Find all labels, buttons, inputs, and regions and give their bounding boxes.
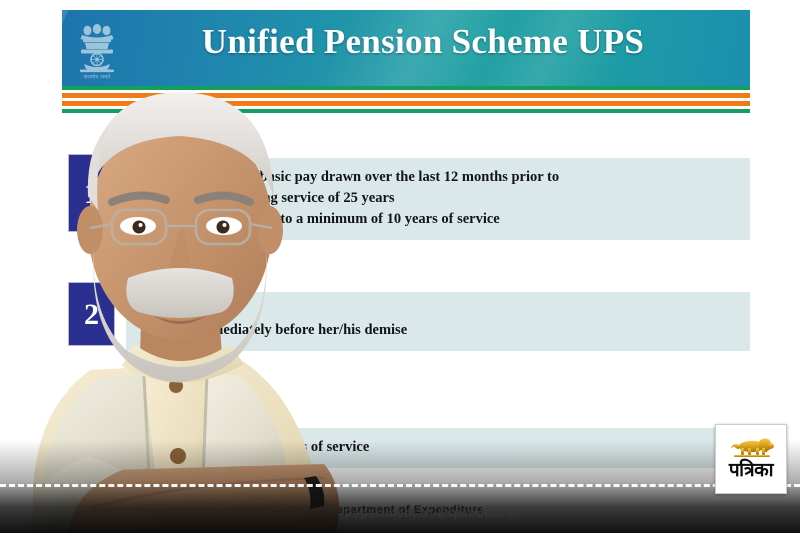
svg-text:सत्यमेव जयते: सत्यमेव जयते [84,74,111,81]
point-number-badge: 1 [68,154,115,232]
point-text-line: mployee immediately before her/his demis… [140,320,736,341]
point-number-badge: 2 [68,282,115,346]
scheme-point-row: 1 0 % of the average basic pay drawn ove… [62,150,750,238]
rule-green-bottom [62,109,750,113]
lion-logo-icon [728,434,774,458]
slide-header-banner: सत्यमेव जयते Unified Pension Scheme UPS [62,10,750,86]
point-text-panel: 0 % of the average basic pay drawn over … [126,158,750,240]
slide-title: Unified Pension Scheme UPS [62,22,750,62]
point-text-line: esser service period upto a minimum of 1… [140,209,736,230]
scheme-point-row: 3 on after minimum 10 years of service [62,420,750,482]
point-text-line: on after minimum 10 years of service [140,437,736,458]
dashed-divider-line [0,484,800,487]
point-subtitle-line: ion : [140,301,736,320]
point-number-badge: 3 [68,422,115,478]
screenshot-root: सत्यमेव जयते Unified Pension Scheme UPS … [0,0,800,533]
patrika-watermark: पत्रिका [715,424,787,494]
watermark-brand-text: पत्रिका [716,460,786,482]
tricolour-divider [62,86,750,112]
presentation-slide: सत्यमेव जयते Unified Pension Scheme UPS … [62,10,750,523]
point-text-panel: ion : mployee immediately before her/his… [126,292,750,351]
point-text-line: 0 % of the average basic pay drawn over … [140,167,736,188]
point-text-panel: on after minimum 10 years of service [126,428,750,468]
scheme-point-row: 2 ion : mployee immediately before her/h… [62,280,750,352]
bottom-department-caption: Department of Expenditure [0,508,800,520]
point-text-line: a minimum qualifying service of 25 years [140,188,736,209]
